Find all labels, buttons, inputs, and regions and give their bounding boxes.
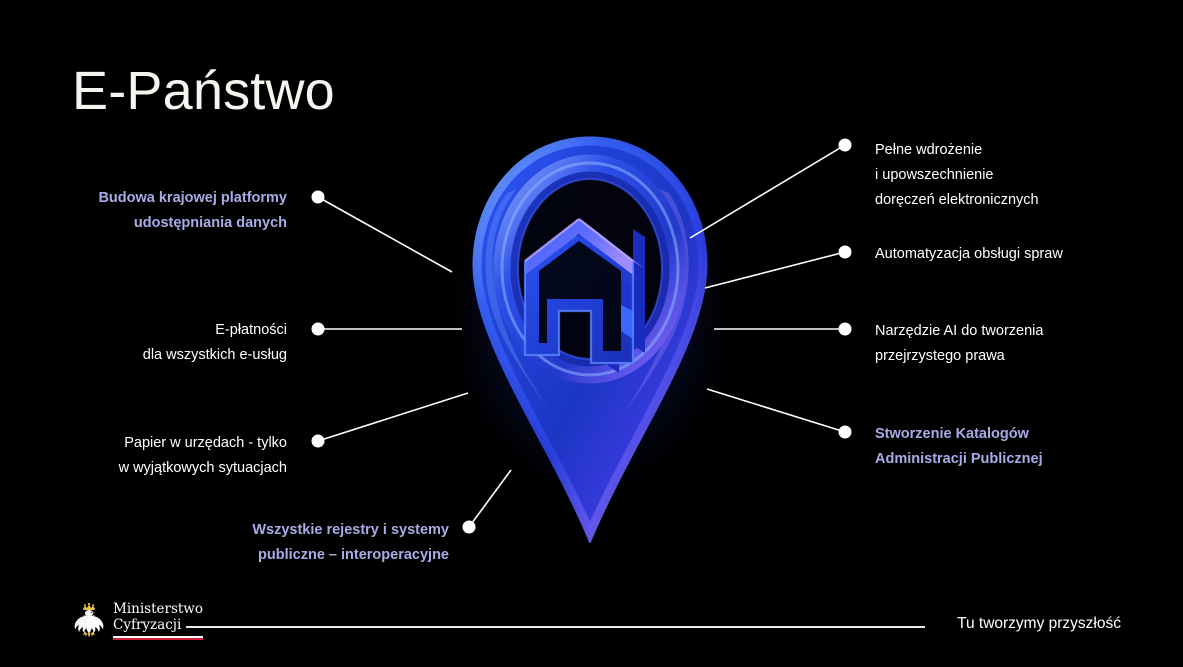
- callout-platforma: Budowa krajowej platformy udostępniania …: [0, 186, 287, 236]
- callout-doreczenia: Pełne wdrożenie i upowszechnienie doręcz…: [875, 138, 1039, 213]
- callout-line: i upowszechnienie: [875, 163, 1039, 188]
- connector-line-katalogi: [707, 389, 845, 432]
- ministry-name-line2: Cyfryzacji: [113, 618, 203, 634]
- connector-dot-eplatnosci: [312, 323, 325, 336]
- connector-line-platforma: [318, 197, 452, 272]
- callout-line: Wszystkie rejestry i systemy: [0, 518, 449, 543]
- callout-line: dla wszystkich e-usług: [0, 343, 287, 368]
- connector-dot-platforma: [312, 191, 325, 204]
- footer-divider: [186, 626, 925, 628]
- callout-katalogi: Stworzenie Katalogów Administracji Publi…: [875, 422, 1043, 472]
- connector-dot-ai: [839, 323, 852, 336]
- callout-eplatnosci: E-płatności dla wszystkich e-usług: [0, 318, 287, 368]
- callout-line: Narzędzie AI do tworzenia: [875, 319, 1043, 344]
- connector-line-automatyzacja: [705, 252, 845, 288]
- callout-rejestry: Wszystkie rejestry i systemy publiczne –…: [0, 518, 449, 568]
- ministry-flag-bar: [113, 636, 203, 640]
- callout-line: przejrzystego prawa: [875, 344, 1043, 369]
- connector-dot-katalogi: [839, 426, 852, 439]
- callout-papier: Papier w urzędach - tylko w wyjątkowych …: [0, 431, 287, 481]
- map-pin-graphic: [455, 133, 725, 543]
- connector-line-papier: [318, 393, 468, 441]
- callout-ai: Narzędzie AI do tworzenia przejrzystego …: [875, 319, 1043, 369]
- footer-tagline: Tu tworzymy przyszłość: [957, 615, 1121, 633]
- callout-line: publiczne – interoperacyjne: [0, 543, 449, 568]
- connector-dot-doreczenia: [839, 139, 852, 152]
- callout-line: doręczeń elektronicznych: [875, 188, 1039, 213]
- callout-line: Administracji Publicznej: [875, 447, 1043, 472]
- polish-eagle-icon: [72, 601, 106, 641]
- slide-root: E-Państwo: [0, 0, 1183, 667]
- connector-dot-papier: [312, 435, 325, 448]
- callout-line: w wyjątkowych sytuacjach: [0, 456, 287, 481]
- connector-dot-automatyzacja: [839, 246, 852, 259]
- callout-line: Pełne wdrożenie: [875, 138, 1039, 163]
- ministry-wordmark: Ministerstwo Cyfryzacji: [113, 602, 203, 640]
- ministry-name-line1: Ministerstwo: [113, 602, 203, 618]
- callout-line: Papier w urzędach - tylko: [0, 431, 287, 456]
- callout-line: Automatyzacja obsługi spraw: [875, 242, 1063, 267]
- callout-line: Stworzenie Katalogów: [875, 422, 1043, 447]
- callout-line: udostępniania danych: [0, 211, 287, 236]
- ministry-logo: Ministerstwo Cyfryzacji: [72, 601, 203, 641]
- page-title: E-Państwo: [72, 62, 335, 121]
- callout-line: Budowa krajowej platformy: [0, 186, 287, 211]
- callout-automatyzacja: Automatyzacja obsługi spraw: [875, 242, 1063, 267]
- callout-line: E-płatności: [0, 318, 287, 343]
